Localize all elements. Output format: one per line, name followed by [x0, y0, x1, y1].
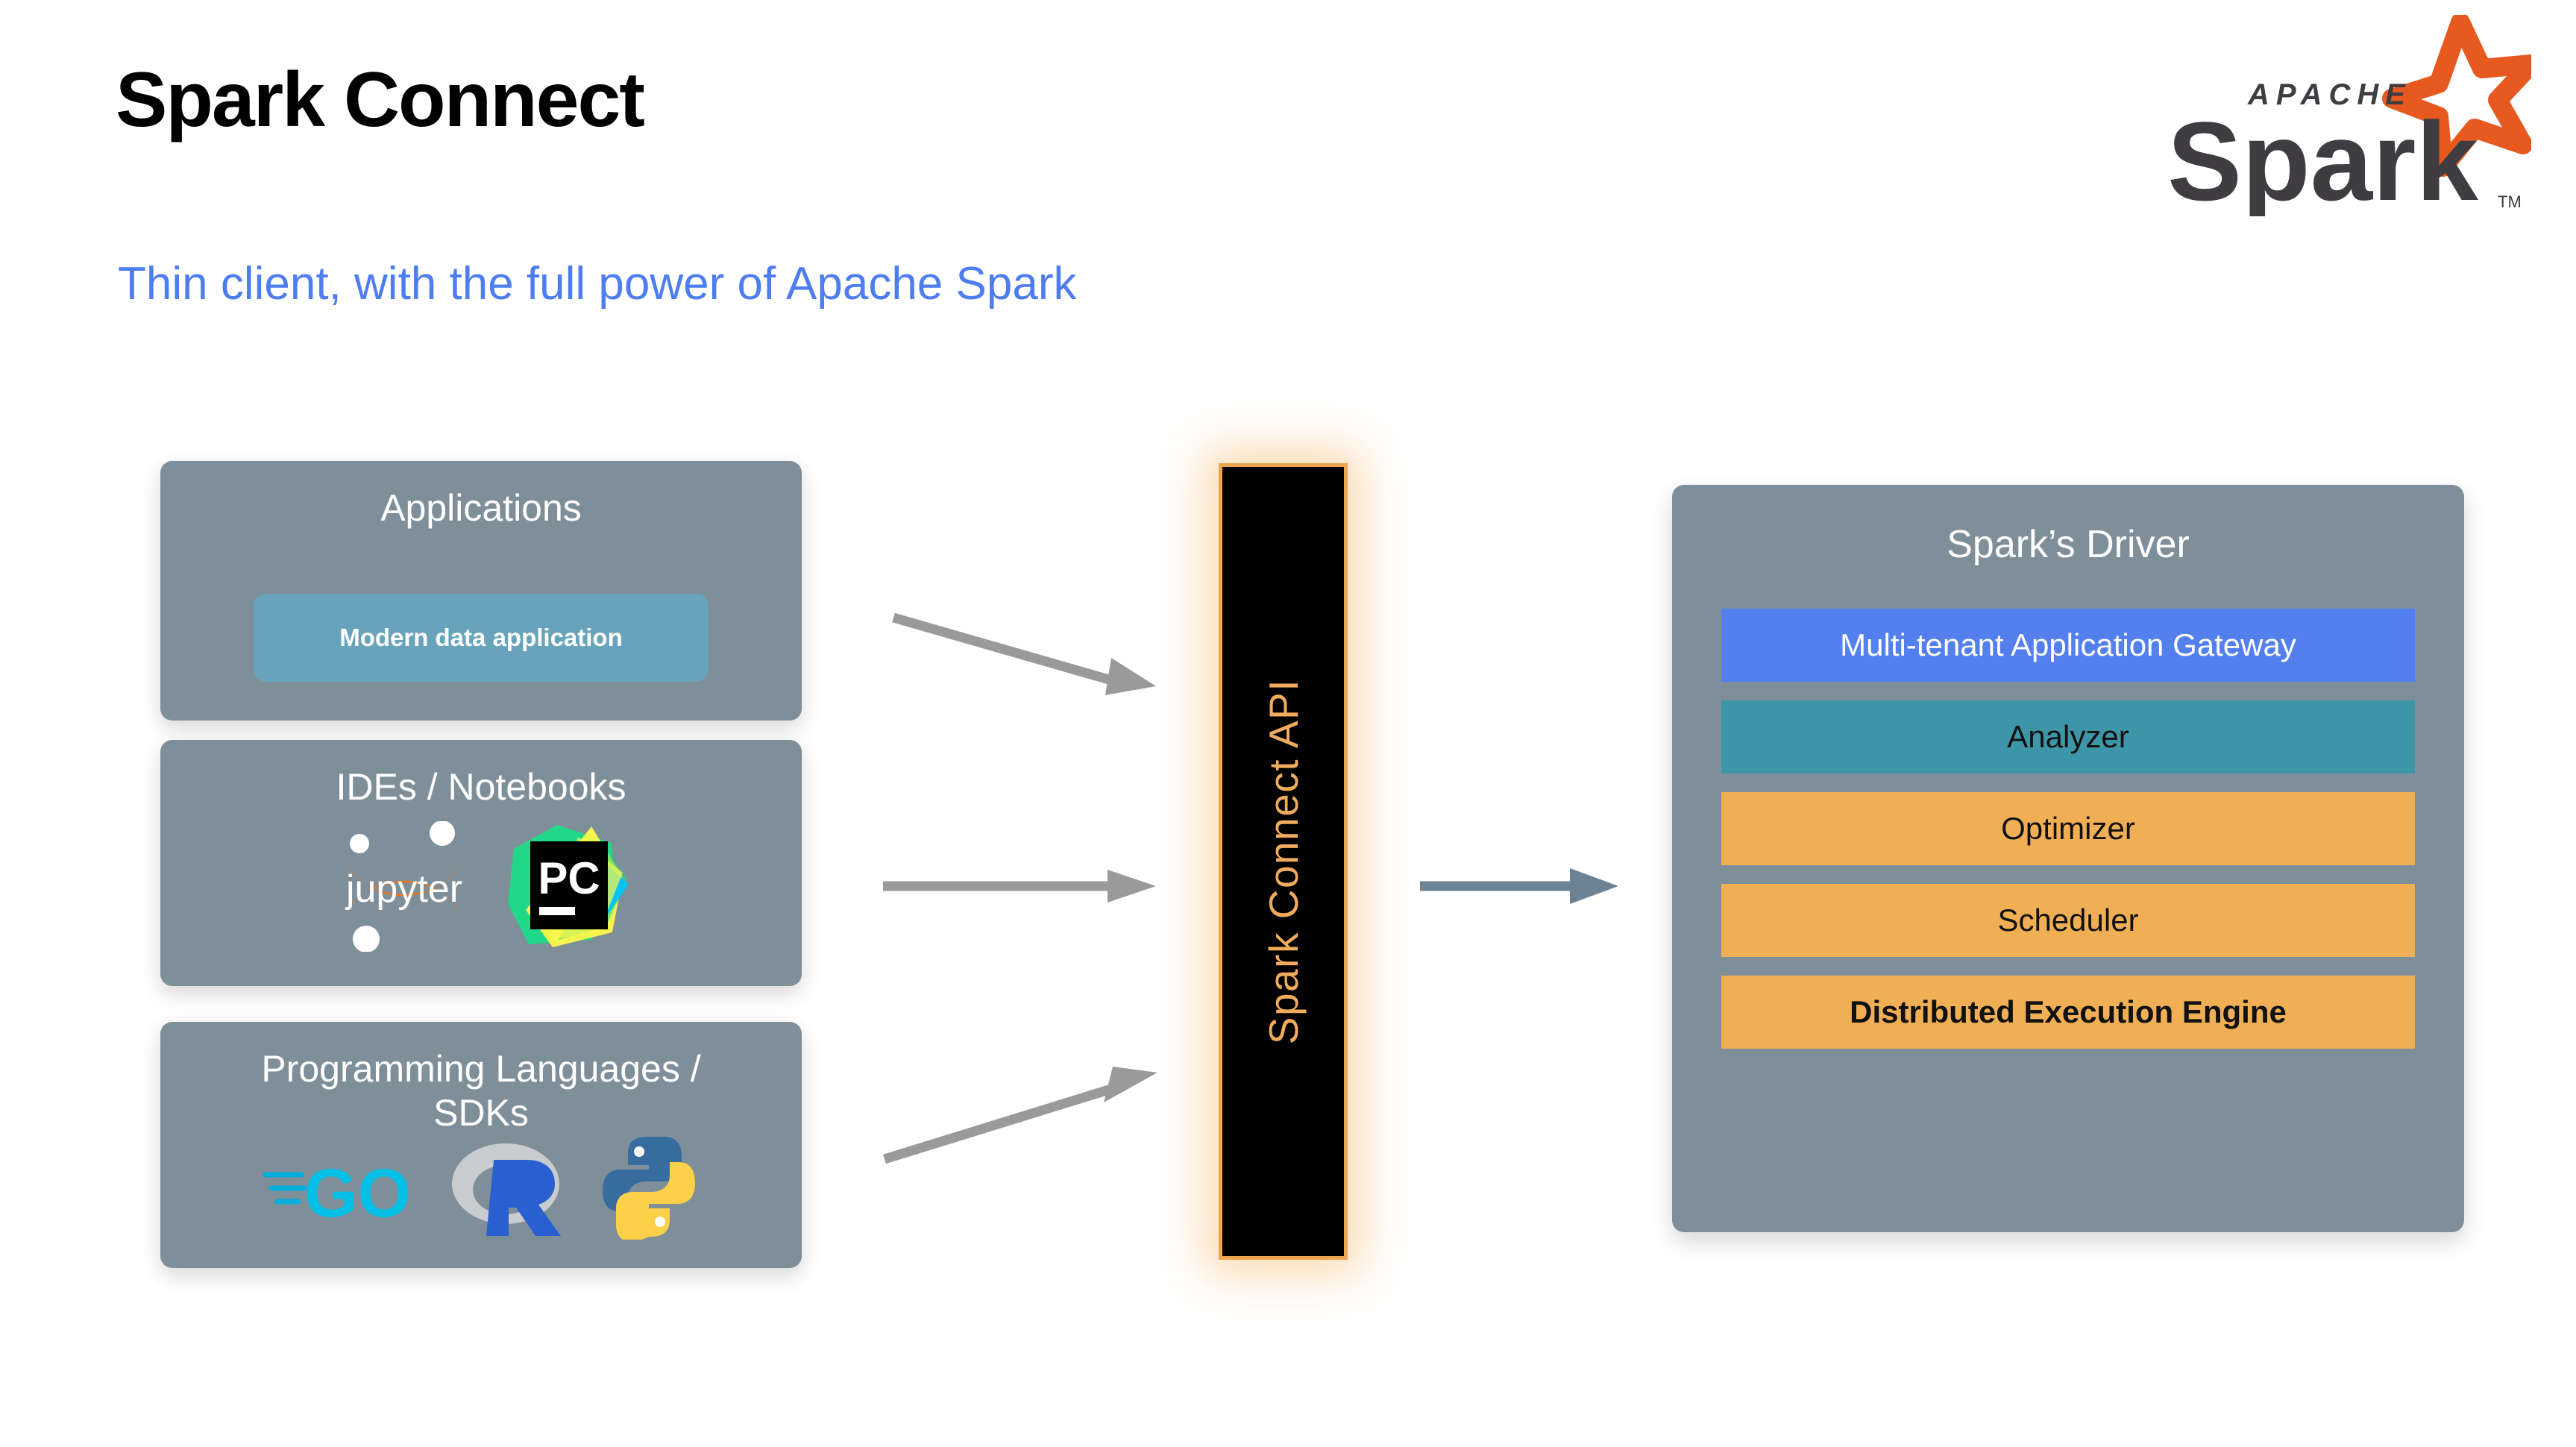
driver-layer-scheduler[interactable]: Scheduler — [1721, 884, 2415, 957]
pycharm-logo: PC — [503, 820, 629, 955]
modern-data-application-chip[interactable]: Modern data application — [254, 594, 709, 682]
jupyter-logo: jupyter — [333, 821, 475, 955]
driver-layer-analyzer[interactable]: Analyzer — [1721, 700, 2415, 773]
driver-layer-gateway-label: Multi-tenant Application Gateway — [1840, 627, 2296, 663]
client-card-programming-languages[interactable]: Programming Languages / SDKs GO — [160, 1022, 802, 1268]
card-title-ides: IDEs / Notebooks — [160, 740, 802, 809]
golang-wordmark: GO — [304, 1155, 411, 1231]
card-title-languages-line1: Programming Languages / — [160, 1047, 802, 1091]
driver-layer-optimizer[interactable]: Optimizer — [1721, 792, 2415, 865]
spark-connect-api-bar[interactable]: Spark Connect API — [1219, 463, 1348, 1260]
client-card-ides-notebooks[interactable]: IDEs / Notebooks jupyter PC — [160, 740, 802, 986]
spark-driver-panel[interactable]: Spark’s Driver Multi-tenant Application … — [1672, 485, 2464, 1232]
driver-layer-analyzer-label: Analyzer — [2007, 719, 2129, 755]
page-title: Spark Connect — [116, 61, 644, 139]
driver-layer-scheduler-label: Scheduler — [1997, 903, 2138, 938]
spark-wordmark: Spark — [2167, 98, 2478, 216]
spark-connect-api-label: Spark Connect API — [1260, 679, 1307, 1044]
ide-logo-row: jupyter PC — [160, 820, 802, 955]
modern-data-application-label: Modern data application — [339, 624, 623, 652]
arrow-ides-to-api — [880, 865, 1163, 910]
arrow-languages-to-api — [880, 1059, 1171, 1178]
card-title-languages-line2: SDKs — [160, 1091, 802, 1135]
driver-layer-gateway[interactable]: Multi-tenant Application Gateway — [1721, 609, 2415, 682]
arrow-applications-to-api — [888, 612, 1171, 716]
driver-layer-execution-engine[interactable]: Distributed Execution Engine — [1721, 976, 2415, 1049]
page-subtitle: Thin client, with the full power of Apac… — [118, 261, 1076, 307]
client-card-applications[interactable]: Applications Modern data application — [160, 461, 802, 721]
trademark-mark: TM — [2498, 192, 2522, 211]
golang-logo: GO — [261, 1142, 418, 1235]
arrow-api-to-driver — [1417, 865, 1626, 910]
r-language-logo — [447, 1134, 567, 1243]
spark-driver-title: Spark’s Driver — [1672, 485, 2464, 567]
driver-layer-execution-engine-label: Distributed Execution Engine — [1850, 994, 2287, 1030]
card-title-languages: Programming Languages / SDKs — [160, 1022, 802, 1135]
card-title-applications: Applications — [160, 461, 802, 530]
driver-layer-optimizer-label: Optimizer — [2001, 811, 2135, 847]
driver-layer-stack: Multi-tenant Application Gateway Analyze… — [1721, 609, 2415, 1067]
apache-spark-logo: APACHE Spark TM — [2158, 15, 2531, 216]
python-logo — [597, 1134, 701, 1243]
jupyter-wordmark: jupyter — [345, 867, 462, 911]
language-logo-row: GO — [160, 1134, 802, 1243]
pycharm-pc-mark: PC — [538, 853, 600, 903]
